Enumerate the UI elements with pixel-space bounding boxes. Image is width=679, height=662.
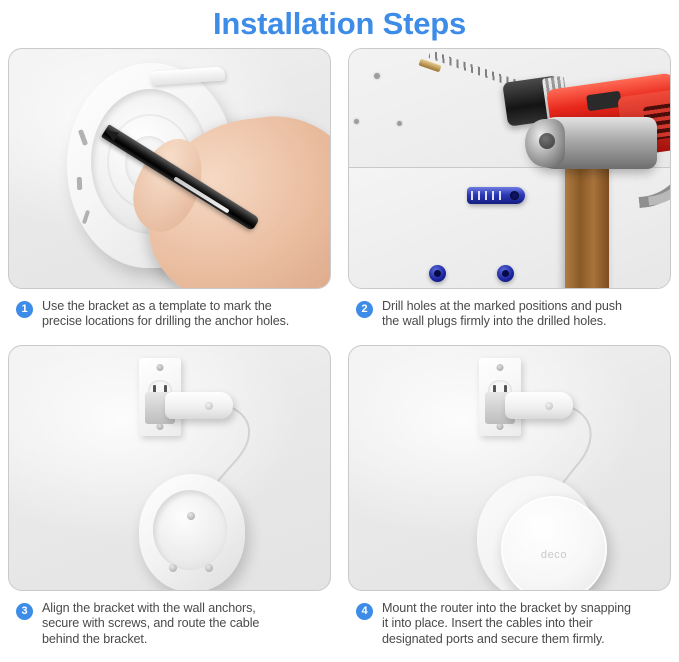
installed-wall-plug — [429, 265, 446, 282]
step-number-badge: 2 — [356, 301, 373, 318]
steps-grid: 1 Use the bracket as a template to mark … — [0, 48, 679, 652]
hammer-eye — [539, 133, 555, 149]
bracket-slot — [78, 129, 88, 146]
wall-plug-inserting — [467, 187, 525, 204]
outlet-screw — [157, 423, 164, 430]
step-description: Align the bracket with the wall anchors,… — [42, 601, 259, 647]
illustration-bracket-mounted — [9, 346, 330, 590]
mounting-screw — [187, 512, 195, 520]
step-description: Drill holes at the marked positions and … — [382, 299, 622, 330]
step-number-badge: 3 — [16, 603, 33, 620]
illustration-bracket-marking — [9, 49, 330, 288]
step-description: Use the bracket as a template to mark th… — [42, 299, 289, 330]
deco-router: deco — [501, 496, 607, 591]
step-4-caption: 4 Mount the router into the bracket by s… — [340, 591, 679, 647]
step-card-3: 3 Align the bracket with the wall anchor… — [0, 345, 339, 652]
power-adapter — [505, 392, 573, 419]
wall-plug-hole — [510, 191, 519, 200]
step-3-image-panel — [8, 345, 331, 591]
step-description: Mount the router into the bracket by sna… — [382, 601, 631, 647]
illustration-router-mounted: deco — [349, 346, 670, 590]
outlet-screw — [157, 364, 164, 371]
pen-tip — [103, 126, 119, 141]
hammer-handle — [565, 161, 609, 289]
bracket-slot — [77, 177, 82, 190]
bracket-inner-face — [153, 490, 227, 570]
step-3-caption: 3 Align the bracket with the wall anchor… — [0, 591, 339, 647]
deco-brand-logo: deco — [541, 549, 567, 561]
step-card-1: 1 Use the bracket as a template to mark … — [0, 48, 339, 345]
outlet-screw — [497, 364, 504, 371]
step-4-image-panel: deco — [348, 345, 671, 591]
adapter-bolt — [545, 402, 553, 410]
mounting-screw — [205, 564, 213, 572]
step-1-caption: 1 Use the bracket as a template to mark … — [0, 289, 339, 330]
page-title: Installation Steps — [0, 0, 679, 48]
installation-guide-page: Installation Steps — [0, 0, 679, 662]
illustration-drill-and-plugs — [349, 49, 670, 288]
step-2-caption: 2 Drill holes at the marked positions an… — [340, 289, 679, 330]
step-1-image-panel — [8, 48, 331, 289]
step-2-image-panel — [348, 48, 671, 289]
mounting-screw — [169, 564, 177, 572]
installed-wall-plug — [497, 265, 514, 282]
step-number-badge: 4 — [356, 603, 373, 620]
step-number-badge: 1 — [16, 301, 33, 318]
bracket-slot — [82, 210, 90, 225]
power-adapter — [165, 392, 233, 419]
step-card-4: deco 4 Mount the router into the bracket… — [340, 345, 679, 652]
marked-hole-dot — [374, 73, 380, 79]
wall-plug-fins — [471, 191, 505, 200]
outlet-screw — [497, 423, 504, 430]
marked-hole-dot — [354, 119, 359, 124]
step-card-2: 2 Drill holes at the marked positions an… — [340, 48, 679, 345]
adapter-bolt — [205, 402, 213, 410]
marked-hole-dot — [397, 121, 402, 126]
router-bracket — [139, 474, 245, 591]
